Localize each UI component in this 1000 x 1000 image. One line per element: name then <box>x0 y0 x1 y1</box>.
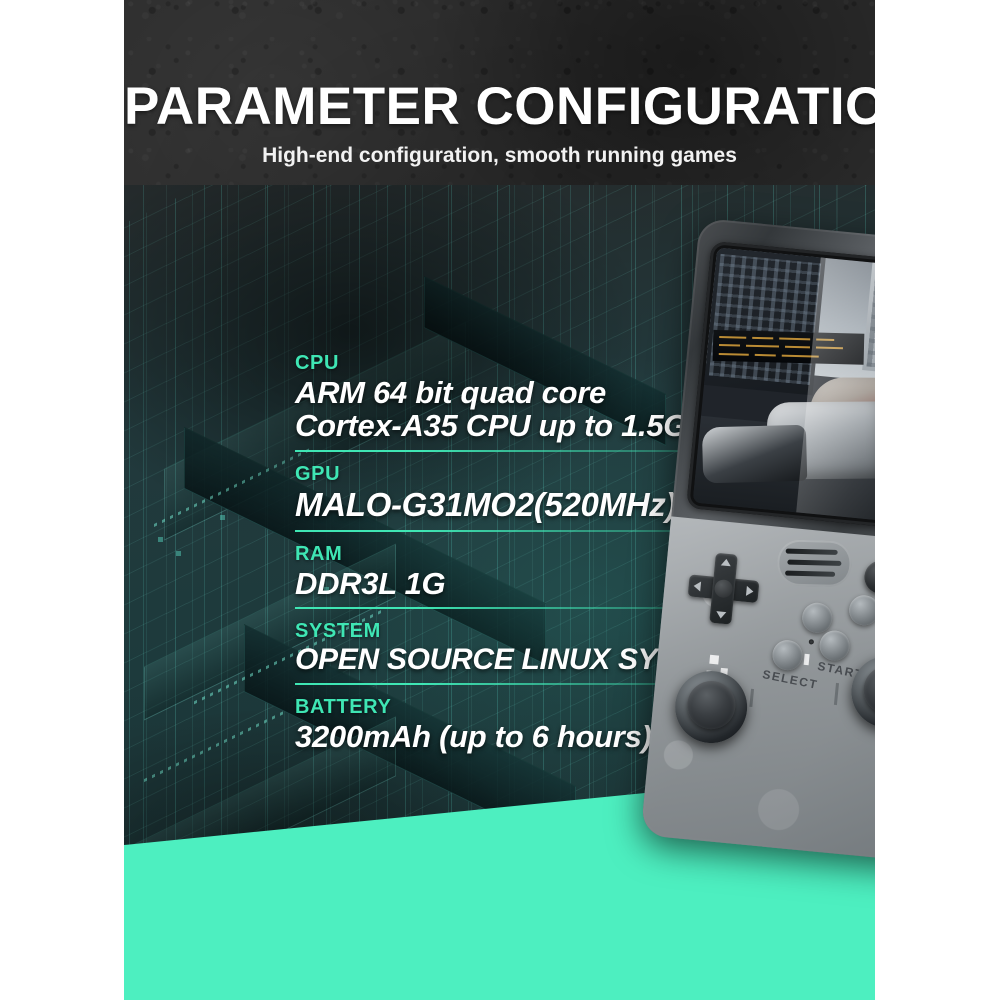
dpad-right-arrow-icon <box>746 586 754 597</box>
pcb-component <box>804 654 810 665</box>
speaker-grille <box>777 539 852 587</box>
button-y-label: Y <box>874 567 875 588</box>
screen-bezel: JABL <box>686 241 875 534</box>
poster-canvas: PARAMETER CONFIGURATION High-end configu… <box>0 0 1000 1000</box>
dpad-left-arrow-icon <box>693 581 701 592</box>
dark-panel: PARAMETER CONFIGURATION High-end configu… <box>124 0 875 1000</box>
game-screen[interactable]: JABL <box>693 248 875 528</box>
page-subtitle: High-end configuration, smooth running g… <box>124 144 875 168</box>
pcb-component <box>709 655 719 665</box>
button-y[interactable]: Y <box>863 559 875 595</box>
game-ticker-sign <box>713 330 865 365</box>
game-car-dark <box>702 425 807 484</box>
dpad[interactable] <box>685 551 761 627</box>
dpad-down-arrow-icon <box>716 611 727 619</box>
page-title: PARAMETER CONFIGURATION <box>124 76 875 137</box>
dpad-up-arrow-icon <box>721 558 732 566</box>
game-building-left <box>704 248 826 396</box>
